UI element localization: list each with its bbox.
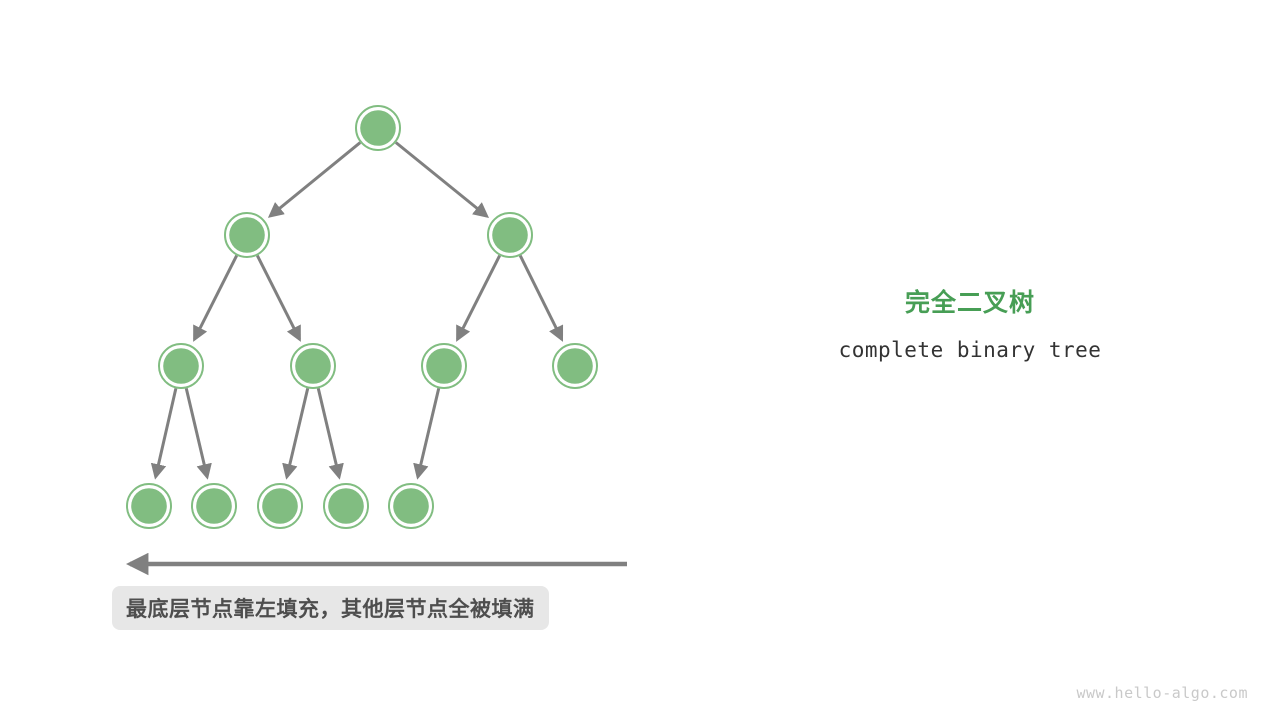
tree-node: [553, 344, 597, 388]
tree-node-fill: [426, 348, 462, 384]
tree-node: [291, 344, 335, 388]
tree-edge: [520, 256, 561, 340]
tree-node-fill: [163, 348, 199, 384]
tree-edge: [186, 388, 207, 476]
tree-node-layer: [127, 106, 597, 528]
tree-node: [488, 213, 532, 257]
tree-edge: [418, 388, 439, 476]
tree-edge: [318, 388, 339, 476]
tree-node-fill: [360, 110, 396, 146]
tree-node-fill: [393, 488, 429, 524]
tree-node: [258, 484, 302, 528]
tree-node-fill: [131, 488, 167, 524]
tree-node-fill: [295, 348, 331, 384]
tree-node-fill: [196, 488, 232, 524]
tree-edge: [257, 256, 299, 340]
tree-edge: [156, 388, 176, 476]
legend-block: 完全二叉树 complete binary tree: [800, 288, 1140, 362]
tree-node-fill: [557, 348, 593, 384]
tree-node-fill: [229, 217, 265, 253]
tree-edge: [396, 142, 487, 216]
tree-node: [422, 344, 466, 388]
tree-node: [324, 484, 368, 528]
legend-title: 完全二叉树: [800, 288, 1140, 318]
tree-edge: [194, 256, 236, 340]
tree-node-fill: [328, 488, 364, 524]
tree-node: [159, 344, 203, 388]
tree-edge: [270, 143, 360, 216]
tree-node: [225, 213, 269, 257]
tree-node-fill: [262, 488, 298, 524]
tree-node-fill: [492, 217, 528, 253]
watermark: www.hello-algo.com: [1076, 684, 1248, 702]
tree-node: [389, 484, 433, 528]
tree-edge-layer: [156, 142, 562, 476]
tree-node: [192, 484, 236, 528]
legend-subtitle: complete binary tree: [800, 338, 1140, 362]
caption-pill: 最底层节点靠左填充，其他层节点全被填满: [112, 586, 549, 630]
tree-edge: [287, 388, 308, 476]
tree-node: [356, 106, 400, 150]
caption-text: 最底层节点靠左填充，其他层节点全被填满: [126, 593, 535, 623]
tree-node: [127, 484, 171, 528]
tree-edge: [457, 256, 499, 340]
